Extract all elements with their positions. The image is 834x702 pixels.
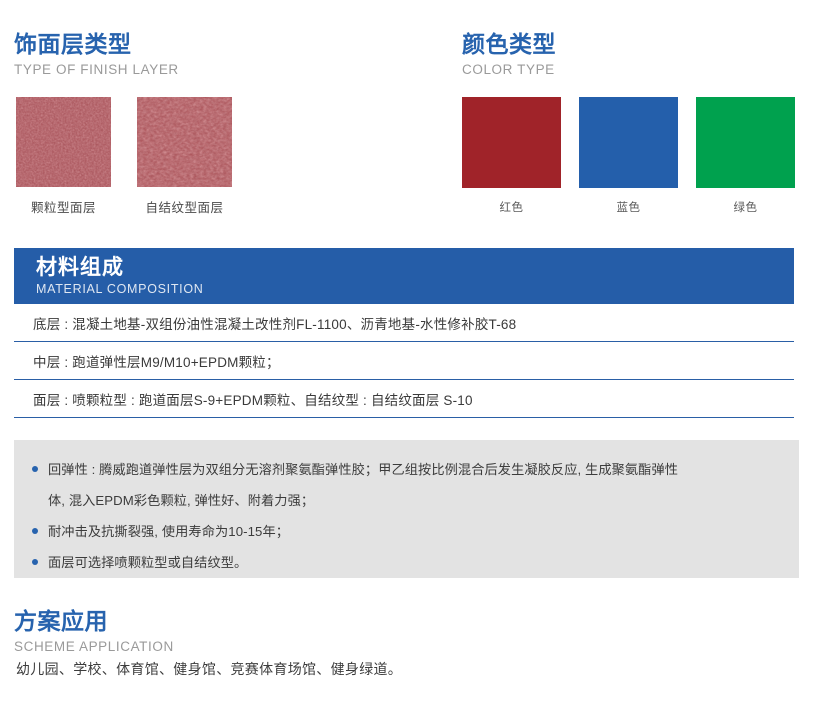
list-item: 回弹性 : 腾威跑道弹性层为双组分无溶剂聚氨酯弹性胶；甲乙组按比例混合后发生凝胶… — [32, 454, 781, 485]
finish-layer-swatch-self-knot[interactable]: 自结纹型面层 — [137, 97, 232, 216]
bullet-dot-icon — [32, 528, 38, 534]
list-item-text: 面层可选择喷颗粒型或自结纹型。 — [48, 555, 247, 570]
finish-layer-swatch-granular[interactable]: 颗粒型面层 — [16, 97, 111, 216]
color-label: 绿色 — [696, 199, 795, 215]
bullet-dot-icon — [32, 466, 38, 472]
color-type-swatch-list: 红色 蓝色 绿色 — [462, 97, 795, 215]
finish-layer-label: 颗粒型面层 — [16, 197, 111, 216]
self-knot-texture-thumbnail — [137, 97, 232, 187]
color-label: 蓝色 — [579, 199, 678, 215]
finish-layer-heading: 饰面层类型 TYPE OF FINISH LAYER — [14, 30, 179, 79]
table-row: 中层 : 跑道弹性层M9/M10+EPDM颗粒； — [14, 342, 794, 380]
material-composition-title-cn: 材料组成 — [36, 255, 794, 280]
list-item-text: 耐冲击及抗撕裂强, 使用寿命为10-15年； — [48, 524, 289, 539]
list-item-text: 体, 混入EPDM彩色颗粒, 弹性好、附着力强； — [48, 493, 314, 508]
granular-texture-icon — [16, 97, 111, 187]
color-type-heading: 颜色类型 COLOR TYPE — [462, 30, 556, 79]
scheme-application-title-cn: 方案应用 — [14, 607, 174, 635]
self-knot-texture-icon — [137, 97, 232, 187]
material-composition-title-en: MATERIAL COMPOSITION — [36, 281, 794, 297]
granular-texture-thumbnail — [16, 97, 111, 187]
list-item-continuation: 体, 混入EPDM彩色颗粒, 弹性好、附着力强； — [32, 485, 781, 516]
scheme-application-heading: 方案应用 SCHEME APPLICATION — [14, 607, 174, 656]
finish-layer-swatch-list: 颗粒型面层 — [16, 97, 232, 216]
color-swatch-green[interactable]: 绿色 — [696, 97, 795, 215]
feature-list-panel: 回弹性 : 腾威跑道弹性层为双组分无溶剂聚氨酯弹性胶；甲乙组按比例混合后发生凝胶… — [14, 440, 799, 578]
material-composition-banner: 材料组成 MATERIAL COMPOSITION — [14, 248, 794, 304]
scheme-application-body: 幼儿园、学校、体育馆、健身馆、竞赛体育场馆、健身绿道。 — [16, 659, 402, 679]
color-chip — [462, 97, 561, 188]
table-row: 底层 : 混凝土地基-双组份油性混凝土改性剂FL-1100、沥青地基-水性修补胶… — [14, 304, 794, 342]
color-chip — [696, 97, 795, 188]
color-swatch-blue[interactable]: 蓝色 — [579, 97, 678, 215]
color-chip — [579, 97, 678, 188]
list-item-text: 回弹性 : 腾威跑道弹性层为双组分无溶剂聚氨酯弹性胶；甲乙组按比例混合后发生凝胶… — [48, 462, 678, 477]
color-type-title-cn: 颜色类型 — [462, 30, 556, 58]
bullet-dot-icon — [32, 559, 38, 565]
color-type-title-en: COLOR TYPE — [462, 61, 556, 79]
list-item: 耐冲击及抗撕裂强, 使用寿命为10-15年； — [32, 516, 781, 547]
color-label: 红色 — [462, 199, 561, 215]
finish-layer-label: 自结纹型面层 — [137, 197, 232, 216]
list-item: 面层可选择喷颗粒型或自结纹型。 — [32, 547, 781, 578]
scheme-application-title-en: SCHEME APPLICATION — [14, 638, 174, 656]
material-composition-table: 底层 : 混凝土地基-双组份油性混凝土改性剂FL-1100、沥青地基-水性修补胶… — [14, 304, 794, 418]
color-swatch-red[interactable]: 红色 — [462, 97, 561, 215]
finish-layer-title-en: TYPE OF FINISH LAYER — [14, 61, 179, 79]
finish-layer-title-cn: 饰面层类型 — [14, 30, 179, 58]
table-row: 面层 : 喷颗粒型 : 跑道面层S-9+EPDM颗粒、自结纹型 : 自结纹面层 … — [14, 380, 794, 418]
